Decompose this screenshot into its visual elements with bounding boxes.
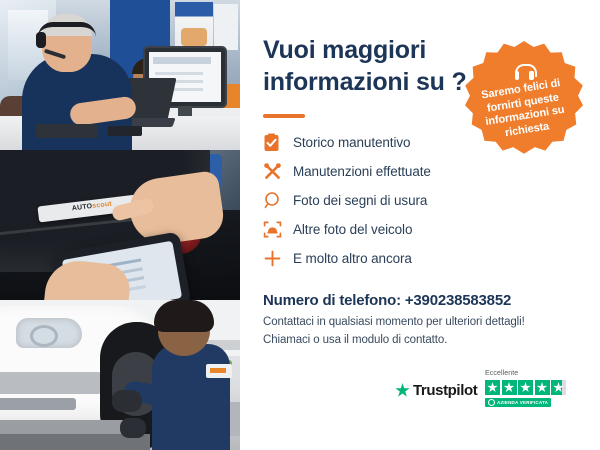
rating-star: [535, 380, 550, 395]
verified-check-icon: [488, 399, 495, 406]
phone-number-label: Numero di telefono:: [263, 292, 405, 309]
feature-item-label: Altre foto del veicolo: [293, 222, 412, 237]
car-grille: [0, 372, 102, 394]
rating-star-partial: [551, 380, 566, 395]
trustpilot-star-icon: [395, 383, 410, 398]
mechanic-hair: [154, 300, 214, 332]
mechanic-glove-lower: [120, 418, 146, 438]
photo-call-center-agents-with-headsets: [0, 0, 240, 150]
car-lower-grille: [0, 398, 76, 410]
feature-item-label: E molto altro ancora: [293, 251, 412, 266]
phone-number-value[interactable]: +390238583852: [405, 292, 511, 309]
rating-star: [502, 380, 517, 395]
mechanic-glove-upper: [112, 390, 142, 412]
feature-item-altre-foto-veicolo: Altre foto del veicolo: [263, 215, 513, 244]
headset-band: [38, 22, 96, 37]
promo-card: AUTOscout: [0, 0, 600, 450]
magnifier-icon: [263, 191, 293, 210]
plus-icon: [263, 249, 293, 268]
phone-number-line: Numero di telefono: +390238583852: [263, 292, 563, 309]
wall-poster: [175, 2, 213, 54]
headset-earpiece: [36, 32, 46, 48]
feature-item-molto-altro-ancora: E molto altro ancora: [263, 244, 513, 273]
photo-frame-icon: [263, 220, 293, 239]
verified-business-badge: AZIENDA VERIFICATA: [485, 398, 551, 407]
wall-notice: [214, 4, 238, 50]
trustpilot-logo: Trustpilot: [395, 382, 477, 399]
rating-star: [485, 380, 500, 395]
photo-mechanic-inspecting-white-car-wheel: [0, 300, 240, 450]
contact-text-line-2: Chiamaci o usa il modulo di contatto.: [263, 334, 583, 346]
verified-business-label: AZIENDA VERIFICATA: [497, 400, 548, 405]
content-panel: Vuoi maggiori informazioni su ? Saremo f…: [240, 0, 600, 450]
crossed-tools-icon: [263, 162, 293, 181]
headset-icon: [515, 64, 533, 80]
rating-star: [518, 380, 533, 395]
feature-item-storico-manutentivo: Storico manutentivo: [263, 128, 513, 157]
trustpilot-widget[interactable]: Trustpilot Eccellente AZIENDA VERIFICATA: [395, 370, 595, 418]
feature-item-label: Manutenzioni effettuate: [293, 164, 431, 179]
page-title: Vuoi maggiori informazioni su ?: [263, 34, 493, 98]
feature-item-manutenzioni-effettuate: Manutenzioni effettuate: [263, 157, 513, 186]
car-headlight: [16, 318, 82, 348]
keyboard: [36, 124, 98, 138]
lift-arm: [0, 420, 126, 434]
trustpilot-rating-label: Eccellente: [485, 370, 518, 377]
trustpilot-name: Trustpilot: [413, 382, 477, 399]
second-keyboard: [108, 126, 142, 136]
clipboard-check-icon: [263, 133, 293, 152]
photo-technician-measuring-dark-car-with-tablet: AUTOscout: [0, 150, 240, 300]
feature-item-label: Foto dei segni di usura: [293, 193, 427, 208]
page-title-line-2: informazioni su ?: [263, 66, 493, 98]
feature-list: Storico manutentivo Manutenzioni effettu…: [263, 128, 513, 273]
title-underline-divider: [263, 114, 305, 118]
feature-item-label: Storico manutentivo: [293, 135, 410, 150]
contact-text-line-1: Contattaci in qualsiasi momento per ulte…: [263, 316, 583, 328]
photo-column: AUTOscout: [0, 0, 240, 450]
uniform-logo-patch: [206, 364, 232, 378]
feature-item-foto-segni-usura: Foto dei segni di usura: [263, 186, 513, 215]
trustpilot-star-rating: [485, 380, 566, 395]
page-title-line-1: Vuoi maggiori: [263, 34, 493, 66]
